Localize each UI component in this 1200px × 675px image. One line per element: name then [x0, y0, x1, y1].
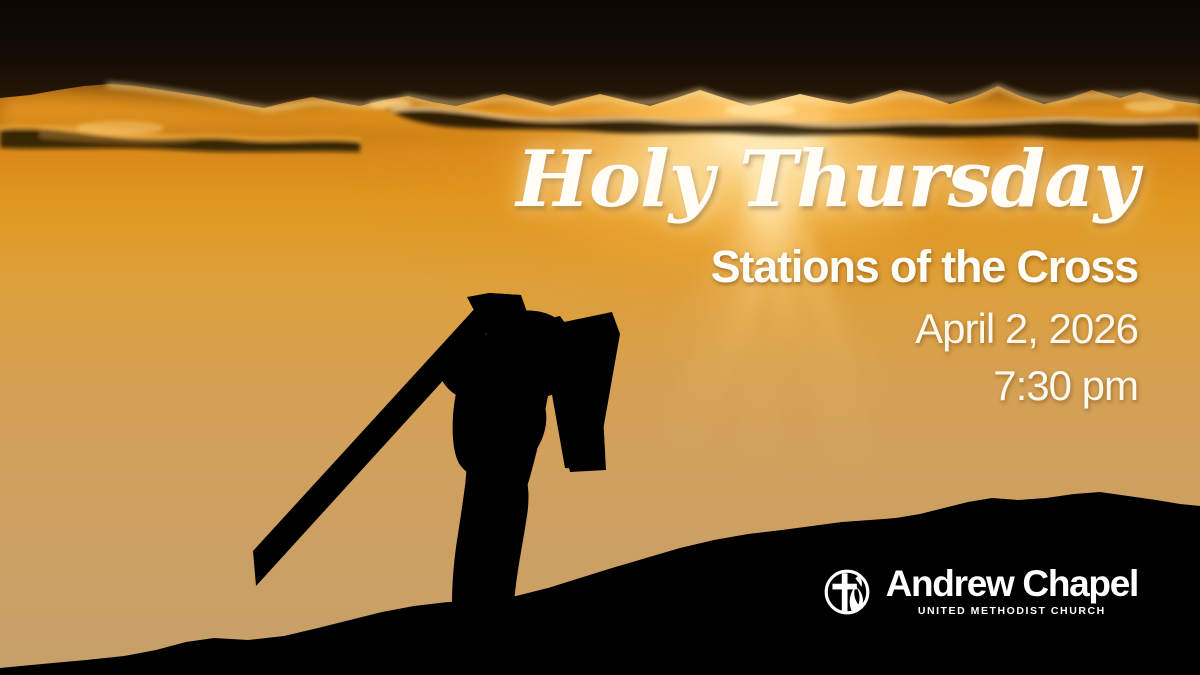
- logo-text-group: Andrew Chapel UNITED METHODIST CHURCH: [886, 565, 1138, 617]
- church-logo[interactable]: Andrew Chapel UNITED METHODIST CHURCH: [821, 565, 1138, 617]
- cross-and-flame-icon: [821, 565, 873, 617]
- church-denomination: UNITED METHODIST CHURCH: [918, 606, 1106, 617]
- church-name: Andrew Chapel: [886, 565, 1138, 602]
- cross-bearer-figure-silhouette: [437, 311, 583, 607]
- holy-thursday-poster: Holy Thursday Stations of the Cross Apri…: [0, 0, 1200, 675]
